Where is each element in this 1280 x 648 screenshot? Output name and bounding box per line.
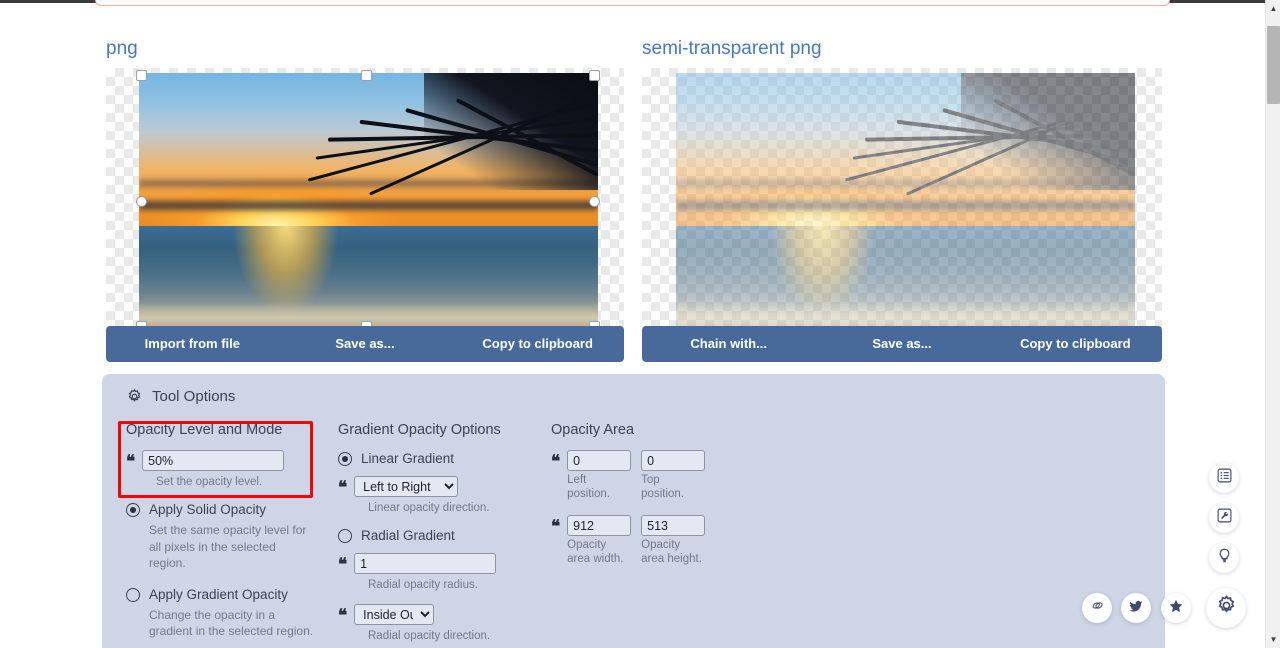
link-icon-button[interactable] (1082, 593, 1112, 623)
opacity-area-width-hint: Opacity area width. (567, 538, 631, 566)
photo-cloud (676, 201, 1135, 210)
quote-icon: ❝ (551, 450, 559, 473)
radio-label: Linear Gradient (361, 450, 454, 468)
link-icon (1090, 598, 1105, 618)
settings-gear-icon-button[interactable] (1206, 588, 1246, 628)
page-root: png (0, 0, 1280, 648)
opacity-area-left-input[interactable] (567, 450, 631, 471)
card-title: png (106, 38, 624, 60)
star-icon-button[interactable] (1161, 593, 1191, 623)
scroll-down-arrow-icon[interactable]: ▼ (1266, 632, 1280, 647)
copy-to-clipboard-button[interactable]: Copy to clipboard (989, 326, 1162, 362)
selection-handle-top-center[interactable] (361, 70, 372, 81)
lightbulb-icon (1216, 547, 1233, 569)
scrollbar-thumb[interactable] (1267, 26, 1280, 104)
quote-icon: ❝ (338, 553, 346, 576)
opacity-area-left-hint: Left position. (567, 473, 631, 501)
selection-handle-middle-right[interactable] (589, 196, 600, 207)
twitter-icon (1128, 598, 1144, 619)
radio-label: Radial Gradient (361, 527, 455, 545)
column-title: Opacity Level and Mode (126, 422, 326, 438)
selection-handle-top-right[interactable] (589, 70, 600, 81)
quote-icon: ❝ (338, 476, 346, 499)
top-alert-box (95, 0, 1170, 6)
column-title: Gradient Opacity Options (338, 422, 538, 438)
selection-handle-top-left[interactable] (136, 70, 147, 81)
radio-apply-solid-opacity[interactable]: Apply Solid Opacity (126, 501, 326, 519)
star-icon (1168, 598, 1184, 619)
tool-options-title: Tool Options (152, 388, 235, 405)
tool-options-header: Tool Options (126, 388, 235, 405)
linear-direction-hint: Linear opacity direction. (368, 501, 538, 515)
wrench-icon-button[interactable] (1209, 503, 1239, 533)
radio-apply-gradient-opacity[interactable]: Apply Gradient Opacity (126, 586, 326, 604)
radial-direction-select[interactable]: Inside Out (354, 604, 434, 625)
list-icon (1216, 467, 1233, 489)
list-icon-button[interactable] (1209, 463, 1239, 493)
image-canvas-semi-transparent-png[interactable] (642, 68, 1162, 328)
import-from-file-button[interactable]: Import from file (106, 326, 279, 362)
lightbulb-icon-button[interactable] (1209, 543, 1239, 573)
opacity-level-hint: Set the opacity level. (156, 475, 326, 489)
tool-options-panel: Tool Options Opacity Level and Mode ❝ Se… (102, 374, 1165, 648)
opacity-area-height-hint: Opacity area height. (641, 538, 705, 566)
quote-icon: ❝ (126, 450, 134, 473)
radio-icon-selected[interactable] (126, 503, 140, 517)
quote-icon: ❝ (338, 604, 346, 627)
image-card-png: png (106, 38, 624, 328)
linear-direction-field-row: ❝ Left to Right (338, 476, 538, 499)
radio-icon-unselected[interactable] (338, 529, 352, 543)
card-title: semi-transparent png (642, 38, 1162, 60)
column-title: Opacity Area (551, 422, 781, 438)
image-canvas-png[interactable] (106, 68, 624, 328)
scroll-up-arrow-icon[interactable]: ▲ (1266, 1, 1280, 16)
radio-description: Change the opacity in a gradient in the … (149, 607, 314, 640)
radial-direction-hint: Radial opacity direction. (368, 629, 538, 643)
opacity-area-top-input[interactable] (641, 450, 705, 471)
image-preview-png[interactable] (139, 73, 598, 328)
radial-direction-field-row: ❝ Inside Out (338, 604, 538, 627)
chain-with-button[interactable]: Chain with... (642, 326, 815, 362)
column-opacity-area: Opacity Area ❝ Left position. Top positi… (551, 422, 781, 568)
opacity-area-position-row: ❝ Left position. Top position. (551, 450, 781, 501)
opacity-level-input[interactable] (142, 450, 284, 471)
photo-cloud (139, 201, 598, 210)
quote-icon: ❝ (551, 515, 559, 538)
image-actionbar-semi-transparent-png: Chain with... Save as... Copy to clipboa… (642, 326, 1162, 362)
wrench-icon (1216, 507, 1233, 529)
column-opacity-level-and-mode: Opacity Level and Mode ❝ Set the opacity… (126, 422, 326, 640)
opacity-area-height-input[interactable] (641, 515, 705, 536)
radio-radial-gradient[interactable]: Radial Gradient (338, 527, 538, 545)
radio-icon-selected[interactable] (338, 452, 352, 466)
radio-icon-unselected[interactable] (126, 588, 140, 602)
save-as-button[interactable]: Save as... (279, 326, 452, 362)
linear-direction-select[interactable]: Left to Right (354, 476, 458, 497)
vertical-scrollbar[interactable]: ▲ ▼ (1265, 0, 1280, 648)
gear-icon (1215, 594, 1238, 622)
save-as-button[interactable]: Save as... (815, 326, 988, 362)
column-gradient-opacity-options: Gradient Opacity Options Linear Gradient… (338, 422, 538, 648)
radio-label: Apply Solid Opacity (149, 501, 266, 519)
radial-radius-input[interactable] (354, 553, 496, 574)
opacity-area-width-input[interactable] (567, 515, 631, 536)
image-actionbar-png: Import from file Save as... Copy to clip… (106, 326, 624, 362)
image-card-semi-transparent-png: semi-transparent png Chain with... Save (642, 38, 1162, 328)
radial-radius-field-row: ❝ (338, 553, 538, 576)
radio-linear-gradient[interactable]: Linear Gradient (338, 450, 538, 468)
photo-shore (676, 303, 1135, 329)
image-preview-semi-transparent-png[interactable] (676, 73, 1135, 328)
copy-to-clipboard-button[interactable]: Copy to clipboard (451, 326, 624, 362)
selection-handle-middle-left[interactable] (136, 196, 147, 207)
twitter-icon-button[interactable] (1121, 593, 1151, 623)
radial-radius-hint: Radial opacity radius. (368, 578, 538, 592)
gear-icon (126, 388, 143, 405)
radio-description: Set the same opacity level for all pixel… (149, 522, 314, 572)
radio-label: Apply Gradient Opacity (149, 586, 288, 604)
opacity-level-field-row: ❝ (126, 450, 326, 473)
opacity-area-top-hint: Top position. (641, 473, 705, 501)
opacity-area-size-row: ❝ Opacity area width. Opacity area heigh… (551, 515, 781, 566)
